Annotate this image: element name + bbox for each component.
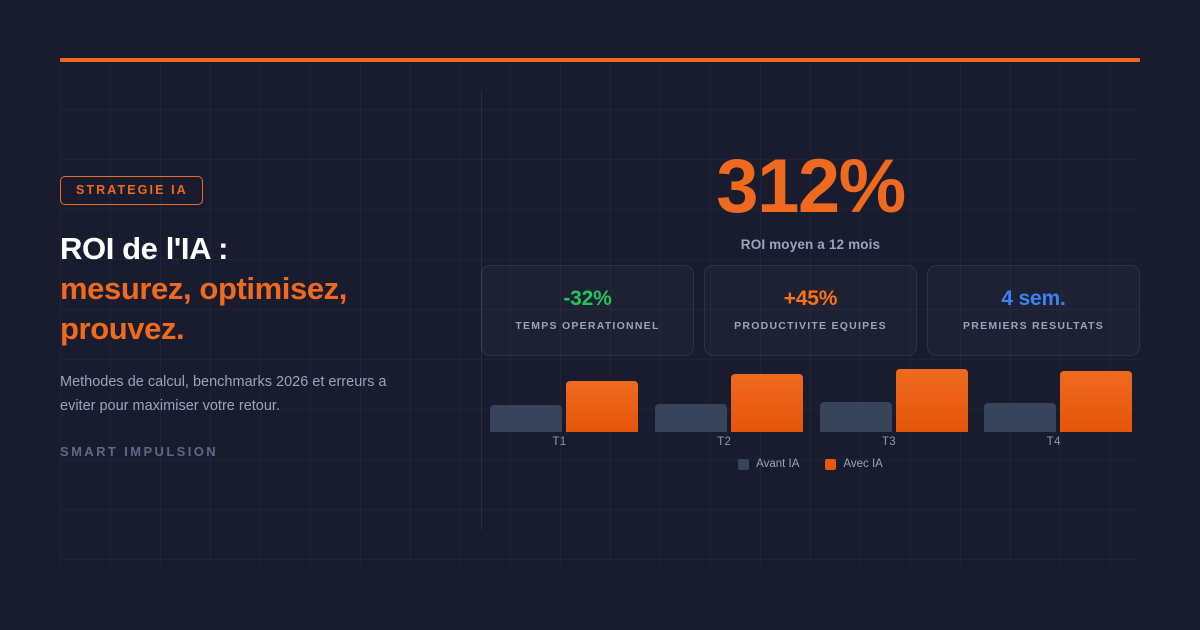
bar-chart: T1T2T3T4 Avant IAAvec IA	[481, 362, 1140, 478]
hero-stat-value: 312%	[481, 152, 1140, 222]
headline-line-2: mesurez, optimisez,	[60, 269, 460, 309]
bar-avec-ia	[566, 381, 638, 432]
legend-label: Avant IA	[756, 458, 799, 470]
left-content-column: STRATEGIE IA ROI de l'IA : mesurez, opti…	[60, 176, 460, 459]
bar-avec-ia	[1060, 371, 1132, 432]
stat-card-value: +45%	[784, 287, 838, 311]
bar-avant-ia	[655, 404, 727, 432]
stat-card-label: TEMPS OPERATIONNEL	[515, 319, 659, 334]
legend-swatch-icon	[825, 459, 836, 470]
chart-bar-group: T3	[811, 362, 976, 432]
stat-card-list: -32%TEMPS OPERATIONNEL+45%PRODUCTIVITE E…	[481, 265, 1140, 356]
brand-name: SMART IMPULSION	[60, 444, 460, 459]
headline-line-3: prouvez.	[60, 309, 460, 349]
hero-stat: 312% ROI moyen a 12 mois	[481, 152, 1140, 252]
bar-avant-ia	[984, 403, 1056, 432]
subtitle-text: Methodes de calcul, benchmarks 2026 et e…	[60, 371, 412, 418]
chart-plot-area: T1T2T3T4	[481, 362, 1140, 432]
legend-swatch-icon	[738, 459, 749, 470]
chart-bar-group: T4	[975, 362, 1140, 432]
bar-avec-ia	[896, 369, 968, 432]
chart-bar-group: T2	[646, 362, 811, 432]
chart-x-label: T2	[646, 436, 803, 448]
chart-legend: Avant IAAvec IA	[481, 458, 1140, 470]
chart-x-label: T3	[811, 436, 968, 448]
stat-card-label: PREMIERS RESULTATS	[963, 319, 1104, 334]
headline-line-1: ROI de l'IA :	[60, 229, 460, 269]
stat-card-value: 4 sem.	[1001, 287, 1065, 311]
bar-avant-ia	[820, 402, 892, 432]
legend-label: Avec IA	[843, 458, 882, 470]
stat-card: 4 sem.PREMIERS RESULTATS	[927, 265, 1140, 356]
chart-bar-group: T1	[481, 362, 646, 432]
bar-avec-ia	[731, 374, 803, 432]
strategy-badge[interactable]: STRATEGIE IA	[60, 176, 203, 205]
legend-item[interactable]: Avant IA	[738, 458, 799, 470]
legend-item[interactable]: Avec IA	[825, 458, 882, 470]
chart-x-label: T1	[481, 436, 638, 448]
top-accent-rule	[60, 58, 1140, 62]
stat-card-label: PRODUCTIVITE EQUIPES	[734, 319, 887, 334]
bar-avant-ia	[490, 405, 562, 432]
chart-x-label: T4	[975, 436, 1132, 448]
stat-card-value: -32%	[563, 287, 611, 311]
stat-card: -32%TEMPS OPERATIONNEL	[481, 265, 694, 356]
hero-stat-label: ROI moyen a 12 mois	[481, 237, 1140, 252]
stat-card: +45%PRODUCTIVITE EQUIPES	[704, 265, 917, 356]
page-title: ROI de l'IA : mesurez, optimisez, prouve…	[60, 229, 460, 350]
